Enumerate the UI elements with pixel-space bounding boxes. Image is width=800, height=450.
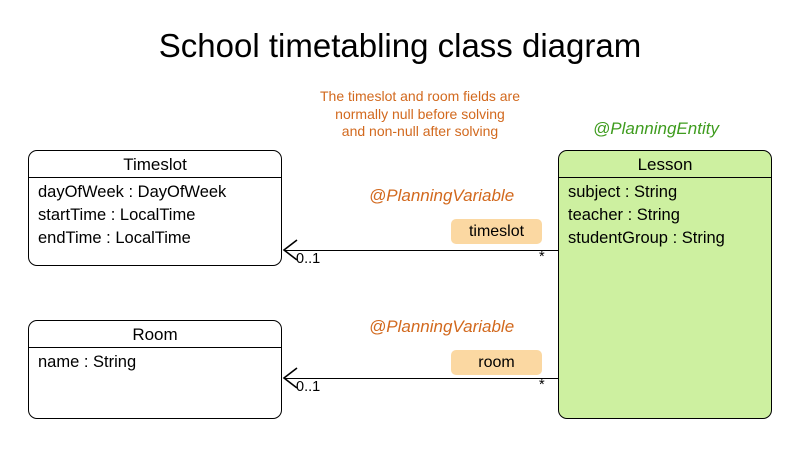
- role-badge-room[interactable]: room: [451, 350, 542, 375]
- class-box-room[interactable]: Room name : String: [28, 320, 282, 419]
- attribute-row: startTime : LocalTime: [38, 204, 281, 227]
- class-box-lesson[interactable]: Lesson subject : String teacher : String…: [558, 150, 772, 419]
- stereotype-planning-variable-timeslot: @PlanningVariable: [369, 186, 514, 206]
- class-attributes-room: name : String: [29, 348, 281, 374]
- annotation-note-line-2: normally null before solving: [240, 106, 600, 124]
- class-name-room: Room: [29, 321, 281, 348]
- class-name-lesson: Lesson: [559, 151, 771, 178]
- class-attributes-lesson: subject : String teacher : String studen…: [559, 178, 771, 250]
- role-badge-timeslot[interactable]: timeslot: [451, 219, 542, 244]
- page-title: School timetabling class diagram: [0, 26, 800, 66]
- attribute-row: studentGroup : String: [568, 227, 771, 250]
- stereotype-planning-entity: @PlanningEntity: [593, 119, 719, 139]
- association-line-timeslot: [284, 250, 558, 251]
- association-line-room: [284, 378, 558, 379]
- attribute-row: dayOfWeek : DayOfWeek: [38, 181, 281, 204]
- annotation-note: The timeslot and room fields are normall…: [240, 88, 600, 141]
- attribute-row: teacher : String: [568, 204, 771, 227]
- multiplicity-room-target: 0..1: [296, 379, 320, 396]
- annotation-note-line-1: The timeslot and room fields are: [240, 88, 600, 106]
- multiplicity-timeslot-source: *: [539, 249, 545, 266]
- class-diagram-canvas: School timetabling class diagram The tim…: [0, 0, 800, 450]
- attribute-row: endTime : LocalTime: [38, 227, 281, 250]
- class-name-timeslot: Timeslot: [29, 151, 281, 178]
- annotation-note-line-3: and non-null after solving: [240, 123, 600, 141]
- attribute-row: subject : String: [568, 181, 771, 204]
- attribute-row: name : String: [38, 351, 281, 374]
- multiplicity-timeslot-target: 0..1: [296, 251, 320, 268]
- stereotype-planning-variable-room: @PlanningVariable: [369, 317, 514, 337]
- class-attributes-timeslot: dayOfWeek : DayOfWeek startTime : LocalT…: [29, 178, 281, 250]
- multiplicity-room-source: *: [539, 377, 545, 394]
- class-box-timeslot[interactable]: Timeslot dayOfWeek : DayOfWeek startTime…: [28, 150, 282, 266]
